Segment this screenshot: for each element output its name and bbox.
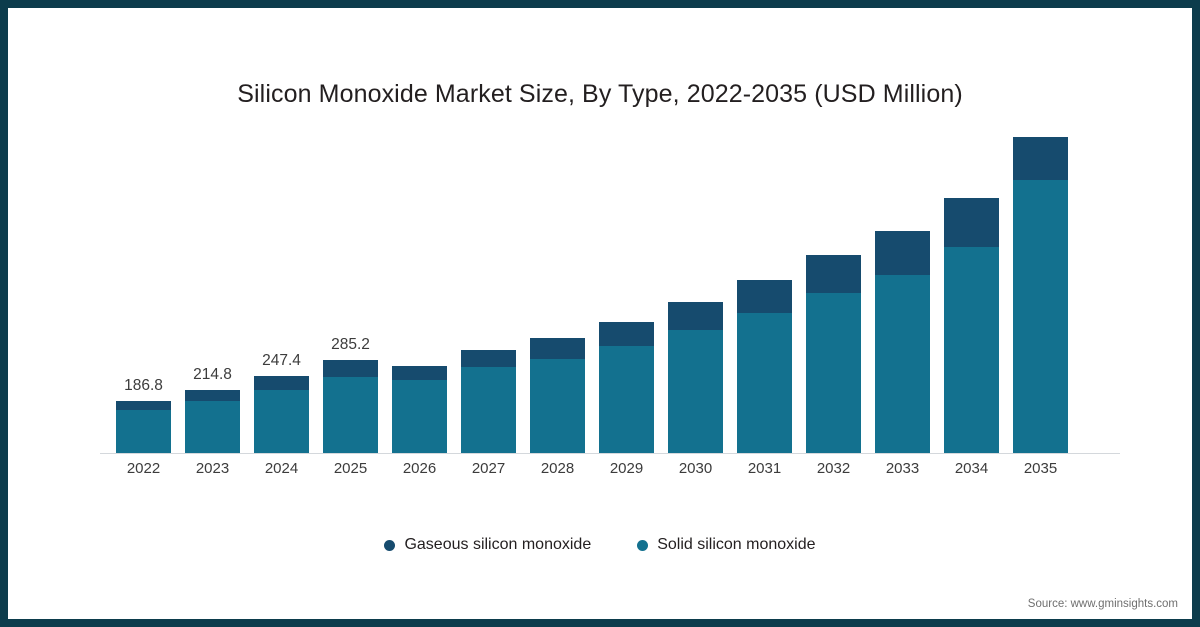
x-tick-2025: 2025: [323, 460, 378, 477]
x-tick-2035: 2035: [1013, 460, 1068, 477]
legend-item-1[interactable]: Solid silicon monoxide: [637, 536, 815, 554]
bar-segment-gaseous: [116, 401, 171, 410]
bar-segment-gaseous: [530, 338, 585, 359]
bar-2029[interactable]: [599, 322, 654, 453]
chart-legend: Gaseous silicon monoxideSolid silicon mo…: [8, 536, 1192, 554]
bar-segment-solid: [392, 380, 447, 453]
bar-segment-gaseous: [323, 360, 378, 377]
bar-2035[interactable]: [1013, 137, 1068, 453]
bar-segment-solid: [323, 377, 378, 453]
bar-value-label: 186.8: [124, 377, 163, 395]
x-tick-2027: 2027: [461, 460, 516, 477]
bar-2024[interactable]: 247.4: [254, 376, 309, 453]
plot-area: 186.8214.8247.4285.2: [100, 118, 1120, 454]
chart-title: Silicon Monoxide Market Size, By Type, 2…: [8, 80, 1192, 109]
legend-item-0[interactable]: Gaseous silicon monoxide: [384, 536, 591, 554]
bar-segment-gaseous: [1013, 137, 1068, 180]
bar-2023[interactable]: 214.8: [185, 390, 240, 453]
chart-figure: Silicon Monoxide Market Size, By Type, 2…: [0, 0, 1200, 627]
source-note: Source: www.gminsights.com: [1028, 598, 1178, 610]
x-axis-line: [100, 453, 1120, 454]
legend-label: Gaseous silicon monoxide: [404, 536, 591, 554]
bar-2027[interactable]: [461, 350, 516, 453]
legend-swatch-icon: [637, 540, 648, 551]
bar-2028[interactable]: [530, 338, 585, 453]
legend-label: Solid silicon monoxide: [657, 536, 815, 554]
bar-segment-gaseous: [461, 350, 516, 367]
bar-value-label: 214.8: [193, 366, 232, 384]
bar-2025[interactable]: 285.2: [323, 360, 378, 453]
bar-segment-solid: [116, 410, 171, 453]
x-tick-2033: 2033: [875, 460, 930, 477]
x-tick-2029: 2029: [599, 460, 654, 477]
bar-segment-solid: [1013, 180, 1068, 453]
bar-segment-gaseous: [875, 231, 930, 275]
bar-segment-solid: [944, 247, 999, 453]
bar-segment-solid: [599, 346, 654, 453]
bar-2033[interactable]: [875, 231, 930, 453]
bar-2022[interactable]: 186.8: [116, 401, 171, 453]
bar-2034[interactable]: [944, 198, 999, 453]
bar-2031[interactable]: [737, 280, 792, 453]
x-tick-2032: 2032: [806, 460, 861, 477]
bar-segment-solid: [254, 390, 309, 453]
x-tick-2034: 2034: [944, 460, 999, 477]
bar-segment-gaseous: [737, 280, 792, 313]
bar-segment-gaseous: [392, 366, 447, 380]
x-tick-2031: 2031: [737, 460, 792, 477]
bar-2032[interactable]: [806, 255, 861, 453]
x-tick-2022: 2022: [116, 460, 171, 477]
bar-segment-gaseous: [668, 302, 723, 330]
bar-segment-gaseous: [806, 255, 861, 293]
bar-segment-solid: [806, 293, 861, 453]
bar-value-label: 285.2: [331, 336, 370, 354]
bar-value-label: 247.4: [262, 352, 301, 370]
bar-segment-gaseous: [254, 376, 309, 390]
bar-segment-gaseous: [599, 322, 654, 346]
bar-segment-solid: [185, 401, 240, 453]
bar-2030[interactable]: [668, 302, 723, 453]
bar-segment-solid: [875, 275, 930, 453]
x-tick-2026: 2026: [392, 460, 447, 477]
x-axis-tick-labels: 2022202320242025202620272028202920302031…: [100, 460, 1120, 484]
bar-segment-solid: [668, 330, 723, 453]
x-tick-2028: 2028: [530, 460, 585, 477]
x-tick-2023: 2023: [185, 460, 240, 477]
bar-segment-solid: [737, 313, 792, 453]
bar-segment-gaseous: [944, 198, 999, 247]
bar-2026[interactable]: [392, 366, 447, 453]
legend-swatch-icon: [384, 540, 395, 551]
x-tick-2030: 2030: [668, 460, 723, 477]
bar-segment-gaseous: [185, 390, 240, 401]
bar-segment-solid: [461, 367, 516, 453]
bar-segment-solid: [530, 359, 585, 453]
x-tick-2024: 2024: [254, 460, 309, 477]
